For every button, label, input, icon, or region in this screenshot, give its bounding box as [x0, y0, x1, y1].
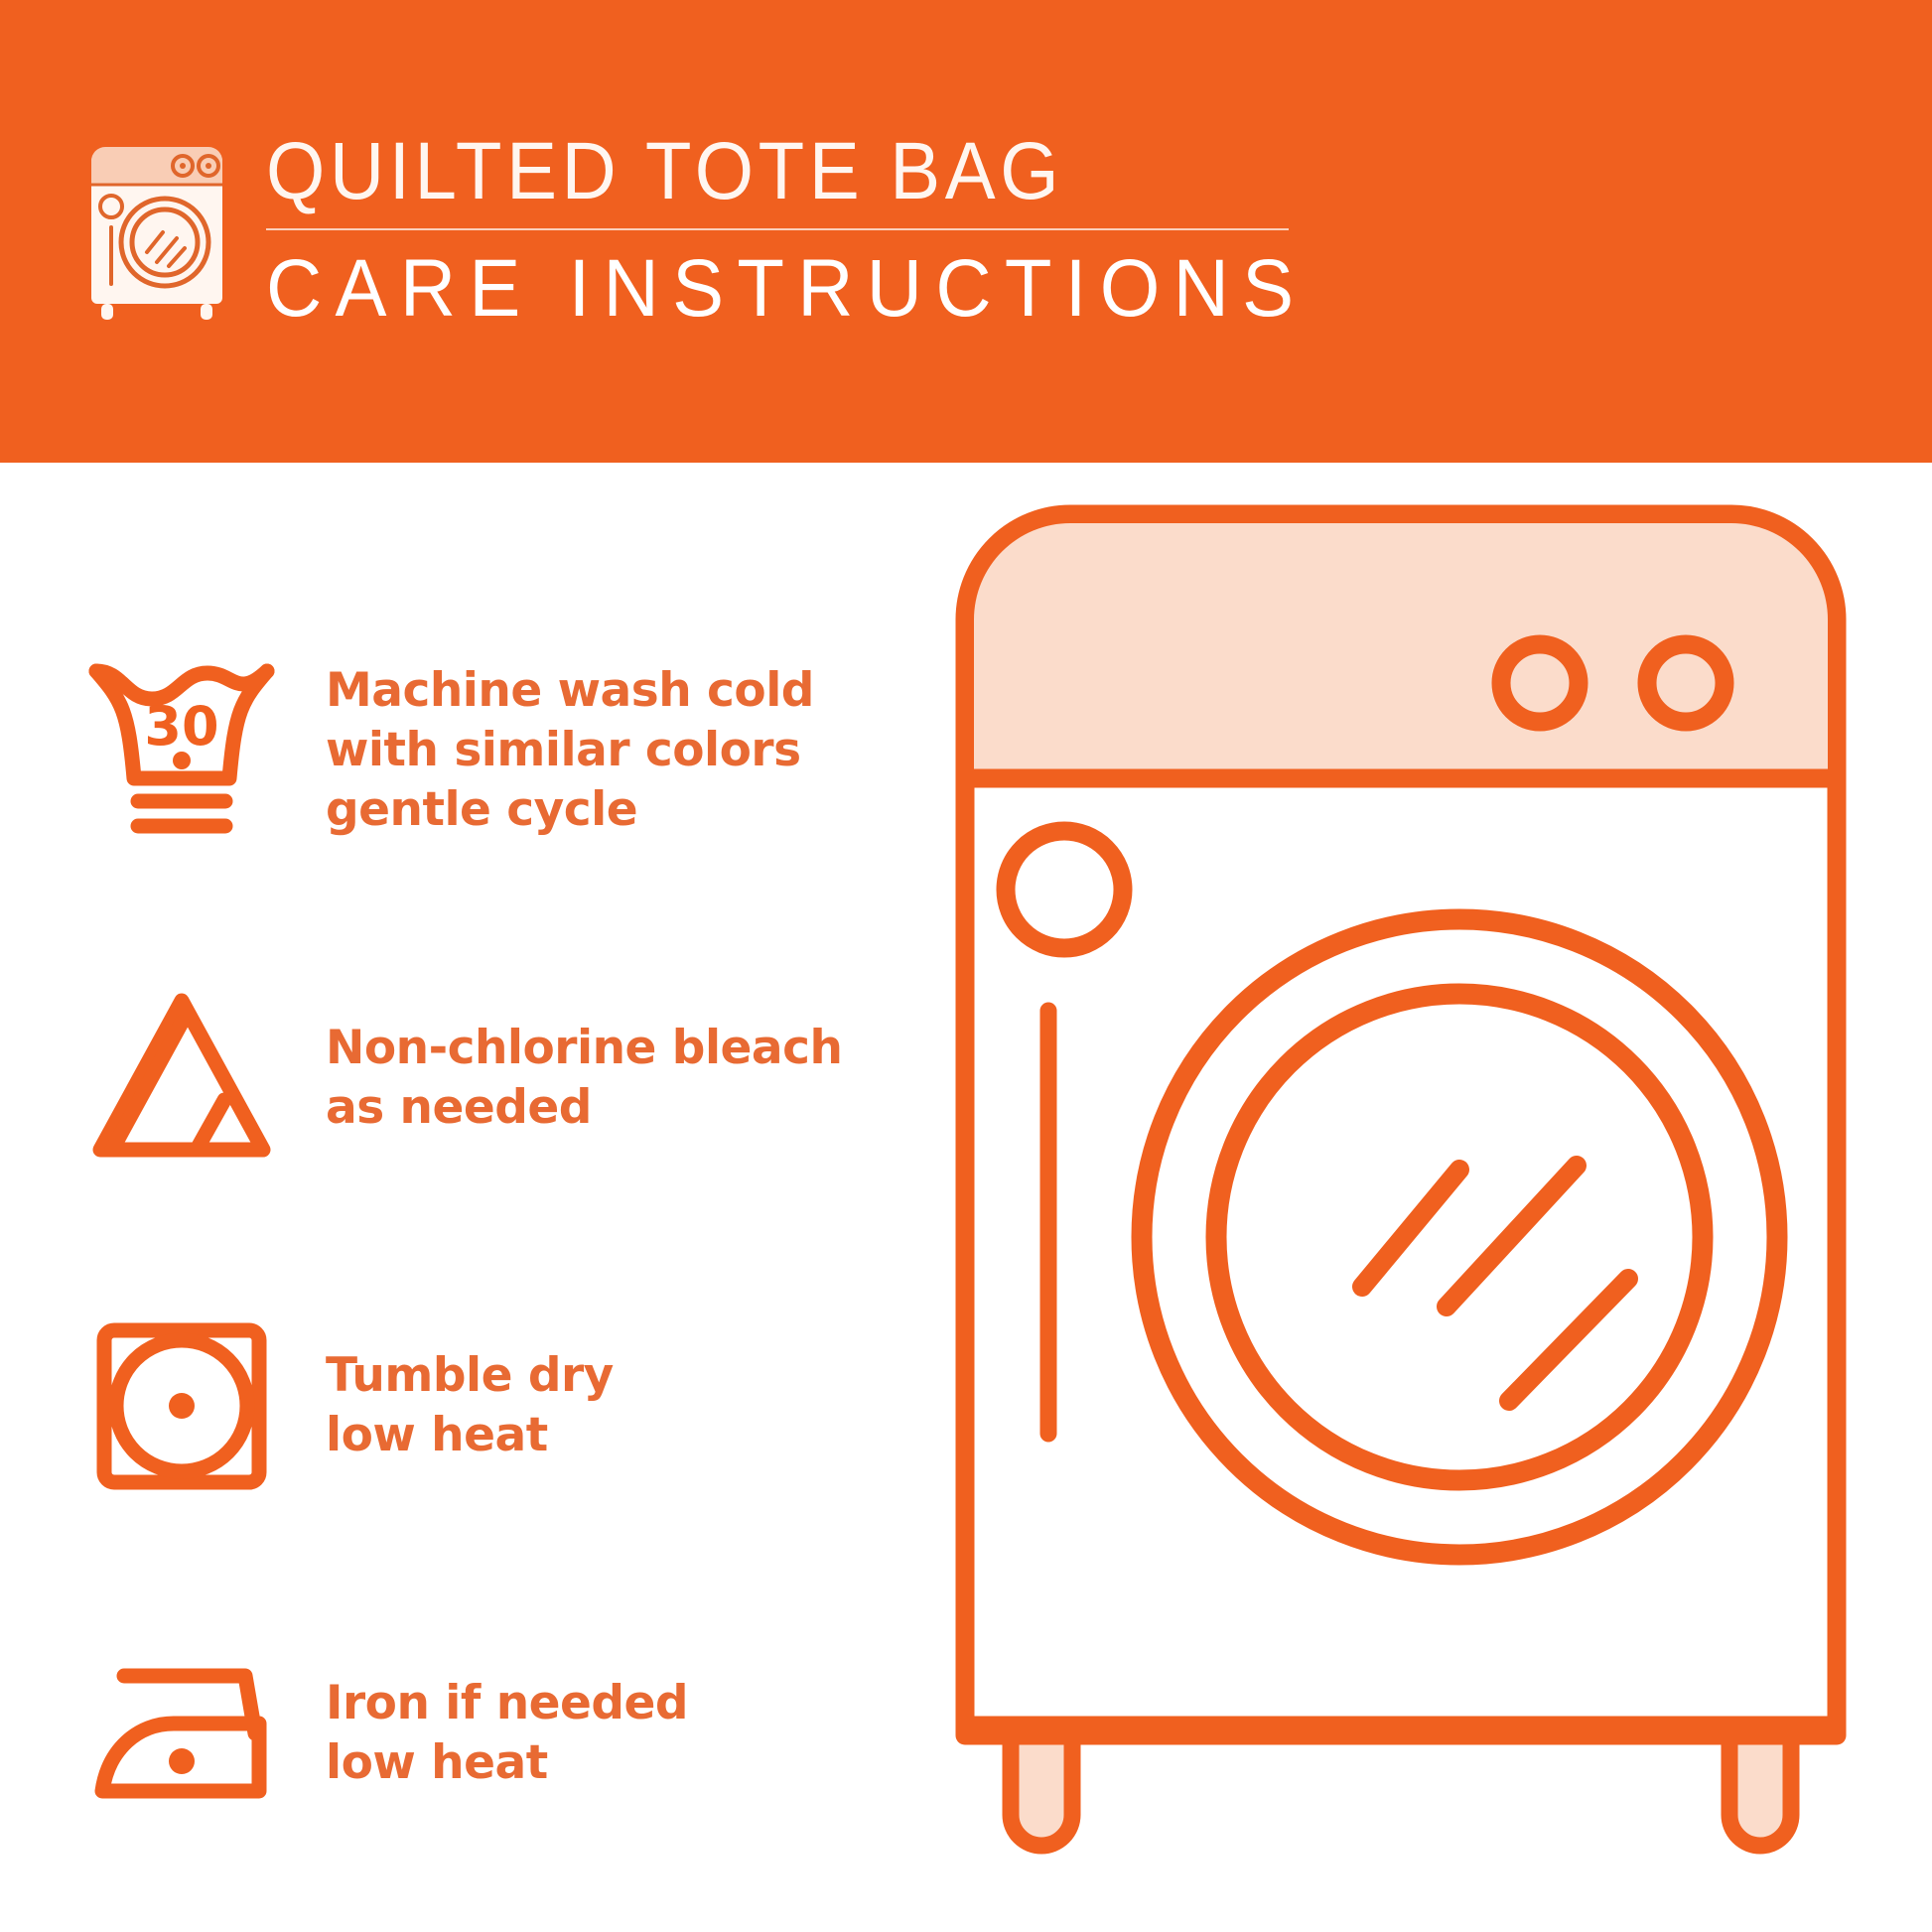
page-subtitle: CARE INSTRUCTIONS — [266, 246, 1307, 332]
header-content: QUILTED TOTE BAG CARE INSTRUCTIONS — [77, 127, 1362, 332]
main-content: 30 Machine wash cold with similar colors… — [0, 463, 1932, 1932]
care-item-iron-text: Iron if needed low heat — [326, 1674, 688, 1793]
care-item-machine-wash: 30 Machine wash cold with similar colors… — [77, 651, 931, 850]
care-text-line: Machine wash cold — [326, 661, 814, 721]
care-text-line: with similar colors — [326, 721, 814, 780]
care-instruction-list: 30 Machine wash cold with similar colors… — [77, 651, 931, 1833]
care-text-line: low heat — [326, 1406, 614, 1465]
wash-tub-30-gentle-icon: 30 — [77, 651, 286, 850]
care-text-line: gentle cycle — [326, 780, 814, 840]
svg-text:30: 30 — [144, 695, 218, 758]
care-text-line: Non-chlorine bleach — [326, 1019, 842, 1078]
care-text-line: as needed — [326, 1078, 842, 1138]
header-banner: QUILTED TOTE BAG CARE INSTRUCTIONS — [0, 0, 1932, 463]
care-text-line: Tumble dry — [326, 1346, 614, 1406]
iron-low-heat-icon — [77, 1634, 286, 1833]
bleach-triangle-nonchlorine-icon — [77, 979, 286, 1177]
care-item-machine-wash-text: Machine wash cold with similar colors ge… — [326, 661, 814, 840]
care-text-line: Iron if needed — [326, 1674, 688, 1733]
title-divider — [266, 228, 1289, 230]
tumble-dry-low-icon — [77, 1307, 286, 1505]
care-text-line: low heat — [326, 1733, 688, 1793]
care-item-tumble-dry: Tumble dry low heat — [77, 1307, 931, 1505]
care-item-bleach-text: Non-chlorine bleach as needed — [326, 1019, 842, 1138]
care-item-tumble-dry-text: Tumble dry low heat — [326, 1346, 614, 1465]
washing-machine-illustration — [953, 502, 1886, 1892]
washing-machine-icon — [77, 127, 236, 321]
care-item-bleach: Non-chlorine bleach as needed — [77, 979, 931, 1177]
page-title: QUILTED TOTE BAG — [266, 129, 1285, 214]
header-title-group: QUILTED TOTE BAG CARE INSTRUCTIONS — [266, 127, 1362, 332]
care-item-iron: Iron if needed low heat — [77, 1634, 931, 1833]
